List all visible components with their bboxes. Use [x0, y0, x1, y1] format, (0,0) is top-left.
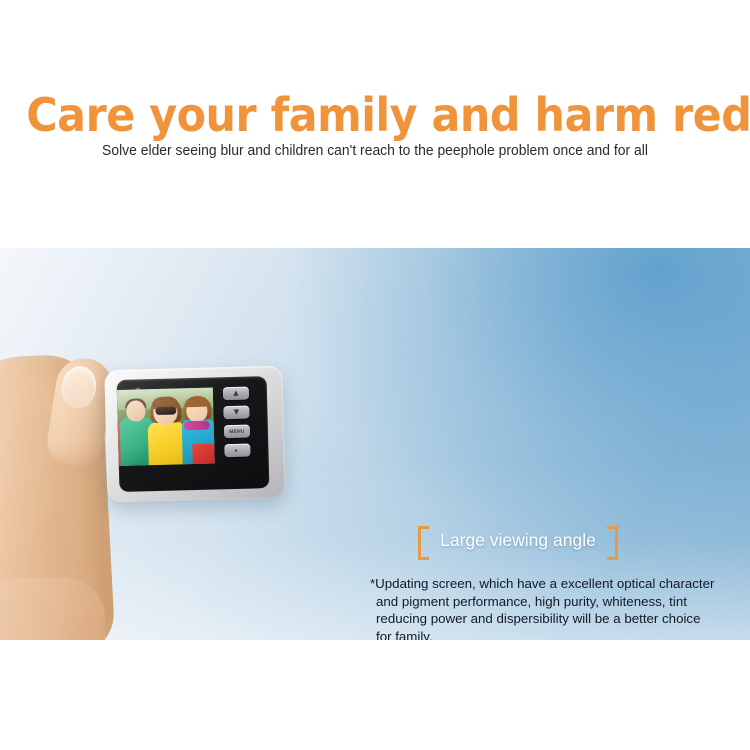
bracket-left-icon	[418, 526, 429, 560]
device-scene: ▲ ▼ MENU ●	[0, 248, 380, 640]
device-screen	[117, 388, 215, 466]
feature-description: *Updating screen, which have a excellent…	[370, 575, 742, 640]
capture-button[interactable]: ●	[224, 444, 250, 458]
screen-person-girl-scarf	[184, 421, 210, 431]
menu-button-label: MENU	[229, 428, 245, 434]
up-button[interactable]: ▲	[223, 387, 249, 401]
peephole-viewer-device: ▲ ▼ MENU ●	[104, 366, 285, 503]
feature-title: Large viewing angle	[429, 530, 607, 551]
description-line: for family.	[370, 628, 742, 641]
triangle-up-icon: ▲	[233, 390, 239, 397]
down-button[interactable]: ▼	[223, 406, 249, 420]
page-subheadline: Solve elder seeing blur and children can…	[15, 143, 735, 159]
page-headline: Care your family and harm reduction	[26, 88, 724, 142]
description-line: *Updating screen, which have a excellent…	[370, 575, 742, 593]
description-line: and pigment performance, high purity, wh…	[370, 593, 742, 611]
description-line: reducing power and dispersibility will b…	[370, 610, 742, 628]
device-button-column: ▲ ▼ MENU ●	[223, 387, 251, 464]
capture-icon: ●	[234, 447, 240, 453]
holding-hand-wrist	[0, 578, 105, 640]
feature-title-bracket: Large viewing angle	[418, 526, 618, 560]
triangle-down-icon: ▼	[234, 409, 240, 416]
header-section: Care your family and harm reduction Solv…	[0, 0, 750, 248]
bracket-right-icon	[607, 526, 618, 560]
screen-red-book	[192, 443, 215, 464]
feature-panel: ▲ ▼ MENU ● Large viewin	[0, 248, 750, 640]
menu-button[interactable]: MENU	[224, 425, 250, 439]
